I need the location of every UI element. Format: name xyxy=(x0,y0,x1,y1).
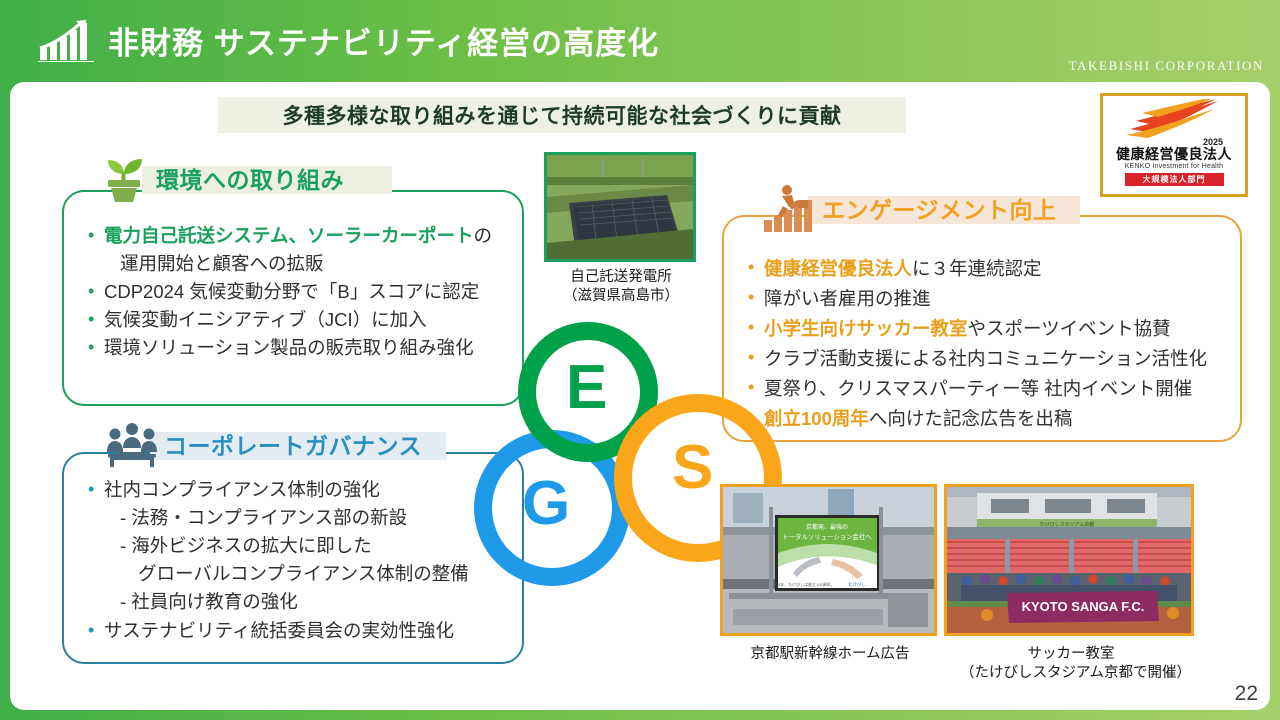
svg-text:たけびし: たけびし xyxy=(848,581,866,588)
bullet-text: 小学生向けサッカー教室やスポーツイベント協賛 xyxy=(764,314,1207,344)
bullet-text: - 法務・コンプライアンス部の新設 xyxy=(104,504,469,532)
soccer-photo-caption: サッカー教室 （たけびしスタジアム京都で開催） xyxy=(960,645,1182,682)
bullet-marker-icon: • xyxy=(748,284,764,311)
environment-bullet-list: •電力自己託送システム、ソーラーカーポートの•運用開始と顧客への拡販•CDP20… xyxy=(88,222,492,363)
slide-header: 非財務 サステナビリティ経営の高度化 TAKEBISHI CORPORATION xyxy=(0,0,1280,88)
bullet-marker-icon: • xyxy=(88,334,104,361)
bullet-text: 夏祭り、クリスマスパーティー等 社内イベント開催 xyxy=(764,374,1207,404)
bullet-text: 環境ソリューション製品の販売取り組み強化 xyxy=(104,334,492,362)
governance-section-label: コーポレートガバナンス xyxy=(164,427,422,461)
bullet-text: - 社員向け教育の強化 xyxy=(104,588,469,616)
bullet-row: •CDP2024 気候変動分野で「B」スコアに認定 xyxy=(88,278,492,306)
bullet-row: •小学生向けサッカー教室やスポーツイベント協賛 xyxy=(748,314,1207,344)
potted-plant-icon xyxy=(96,152,152,204)
bullet-text: 社内コンプライアンス体制の強化 xyxy=(104,476,469,504)
badge-wings-icon xyxy=(1122,99,1226,139)
bullet-marker-icon: • xyxy=(88,306,104,333)
bullet-text: 気候変動イニシアティブ（JCI）に加入 xyxy=(104,306,492,334)
bullet-row: •クラブ活動支援による社内コミュニケーション活性化 xyxy=(748,344,1207,374)
bullet-row: •グローバルコンプライアンス体制の整備 xyxy=(88,560,469,588)
bullet-row: •運用開始と顧客への拡販 xyxy=(88,250,492,278)
meeting-people-icon xyxy=(104,418,160,470)
environment-section-header: 環境への取り組み xyxy=(96,152,358,204)
bullet-marker-icon: • xyxy=(88,278,104,305)
bullet-row: •社内コンプライアンス体制の強化 xyxy=(88,476,469,504)
bullet-marker-icon: • xyxy=(88,476,104,503)
bullet-text: 健康経営優良法人に３年連続認定 xyxy=(764,254,1207,284)
caption-line-1: サッカー教室 xyxy=(960,645,1182,664)
bullet-row: •電力自己託送システム、ソーラーカーポートの xyxy=(88,222,492,250)
engagement-section-header: エンゲージメント向上 xyxy=(762,182,1071,234)
slide: 非財務 サステナビリティ経営の高度化 TAKEBISHI CORPORATION… xyxy=(0,0,1280,720)
bullet-row: •- 社員向け教育の強化 xyxy=(88,588,469,616)
bullet-marker-icon: • xyxy=(88,617,104,644)
bullet-row: •環境ソリューション製品の販売取り組み強化 xyxy=(88,334,492,362)
svg-text:2025年、たけびしは創立100周年。: 2025年、たけびしは創立100周年。 xyxy=(771,581,835,587)
bullet-row: •夏祭り、クリスマスパーティー等 社内イベント開催 xyxy=(748,374,1207,404)
governance-bullet-list: •社内コンプライアンス体制の強化•- 法務・コンプライアンス部の新設•- 海外ビ… xyxy=(88,476,469,645)
bullet-row: •- 海外ビジネスの拡大に即した xyxy=(88,532,469,560)
page-title: 非財務 サステナビリティ経営の高度化 xyxy=(108,18,659,63)
health-management-badge: 2025 健康経営優良法人 KENKO Investment for Healt… xyxy=(1100,93,1248,197)
kyoto-ad-photo-caption: 京都駅新幹線ホーム広告 xyxy=(700,645,960,664)
soccer-class-photo: たけびしスタジアム京都 xyxy=(944,484,1194,636)
bullet-text: グローバルコンプライアンス体制の整備 xyxy=(104,560,469,588)
bullet-row: •創立100周年へ向けた記念広告を出稿 xyxy=(748,404,1207,434)
solar-power-plant-photo xyxy=(544,152,696,262)
svg-text:トータルソリューション会社へ: トータルソリューション会社へ xyxy=(782,532,872,541)
caption-line-2: （たけびしスタジアム京都で開催） xyxy=(960,664,1182,683)
badge-subtitle: KENKO Investment for Health xyxy=(1125,163,1223,170)
caption-line-1: 自己託送発電所 xyxy=(530,268,712,287)
badge-category: 大規模法人部門 xyxy=(1125,173,1224,186)
caption-line-1: 京都駅新幹線ホーム広告 xyxy=(700,645,960,664)
esg-label-g: G xyxy=(522,468,570,539)
bullet-text: - 海外ビジネスの拡大に即した xyxy=(104,532,469,560)
bullet-text: クラブ活動支援による社内コミュニケーション活性化 xyxy=(764,344,1207,374)
engagement-section-label: エンゲージメント向上 xyxy=(822,191,1057,225)
corporation-name: TAKEBISHI CORPORATION xyxy=(1069,58,1264,74)
bullet-marker-icon: • xyxy=(748,254,764,281)
bullet-text: 障がい者雇用の推進 xyxy=(764,284,1207,314)
bullet-row: •サステナビリティ統括委員会の実効性強化 xyxy=(88,617,469,645)
person-climbing-stairs-icon xyxy=(762,182,818,234)
svg-text:たけびしスタジアム京都: たけびしスタジアム京都 xyxy=(1040,521,1095,528)
engagement-bullet-list: •健康経営優良法人に３年連続認定•障がい者雇用の推進•小学生向けサッカー教室やス… xyxy=(748,254,1207,434)
bullet-row: •障がい者雇用の推進 xyxy=(748,284,1207,314)
svg-text:KYOTO SANGA F.C.: KYOTO SANGA F.C. xyxy=(1022,599,1145,614)
svg-text:京都発、最強の: 京都発、最強の xyxy=(806,523,848,531)
governance-section-header: コーポレートガバナンス xyxy=(104,418,436,470)
bullet-text: 創立100周年へ向けた記念広告を出稿 xyxy=(764,404,1207,434)
headline-banner: 多種多様な取り組みを通じて持続可能な社会づくりに貢献 xyxy=(218,97,906,133)
bullet-text: CDP2024 気候変動分野で「B」スコアに認定 xyxy=(104,278,492,306)
bullet-marker-icon: • xyxy=(88,222,104,249)
badge-title: 健康経営優良法人 xyxy=(1116,147,1232,162)
bullet-text: サステナビリティ統括委員会の実効性強化 xyxy=(104,617,469,645)
bullet-row: •気候変動イニシアティブ（JCI）に加入 xyxy=(88,306,492,334)
environment-section-label: 環境への取り組み xyxy=(156,161,344,195)
bullet-text: 運用開始と顧客への拡販 xyxy=(104,250,492,278)
bullet-row: •- 法務・コンプライアンス部の新設 xyxy=(88,504,469,532)
headline-banner-text: 多種多様な取り組みを通じて持続可能な社会づくりに貢献 xyxy=(283,100,842,130)
solar-photo-caption: 自己託送発電所 （滋賀県高島市） xyxy=(530,268,712,305)
esg-label-s: S xyxy=(672,432,713,503)
bullet-text: 電力自己託送システム、ソーラーカーポートの xyxy=(104,222,492,250)
caption-line-2: （滋賀県高島市） xyxy=(530,287,712,306)
growth-chart-icon xyxy=(38,18,96,62)
kyoto-station-ad-photo: 京都発、最強の トータルソリューション会社へ 2025年、たけびしは創立100周… xyxy=(720,484,937,636)
esg-label-e: E xyxy=(566,352,607,423)
bullet-row: •健康経営優良法人に３年連続認定 xyxy=(748,254,1207,284)
page-number: 22 xyxy=(1235,682,1258,706)
